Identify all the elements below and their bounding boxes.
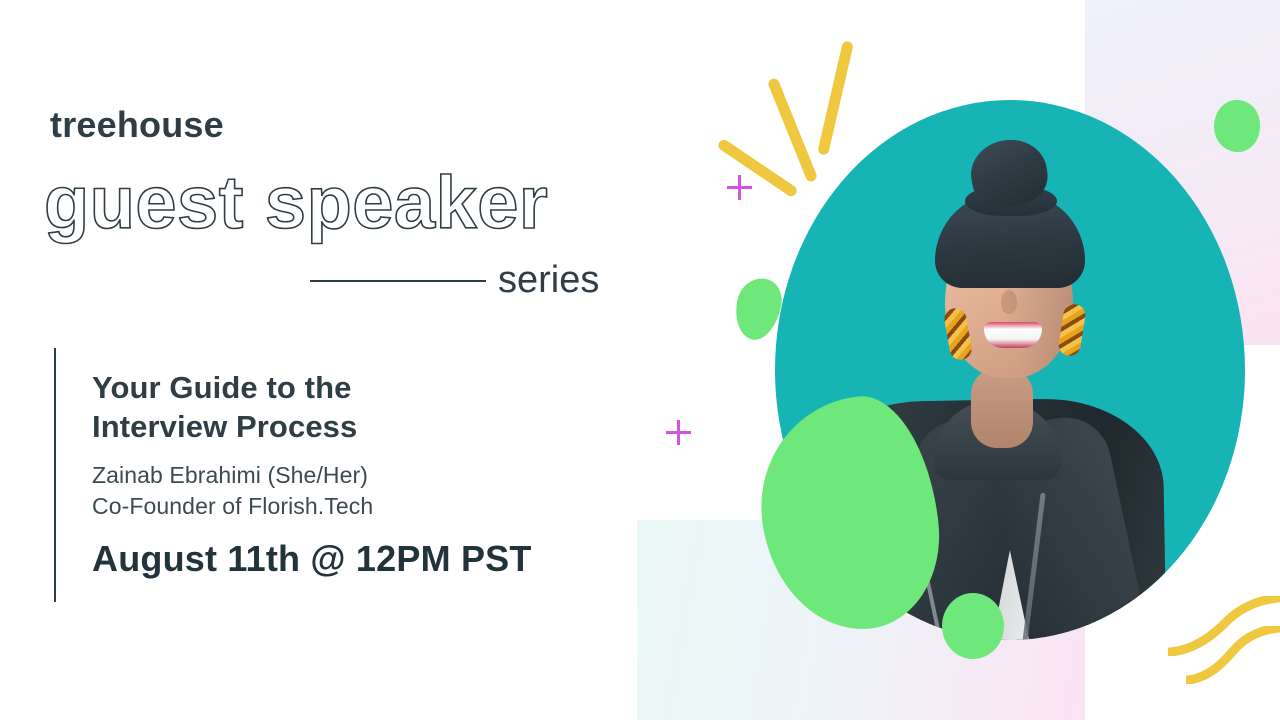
talk-info-block: Your Guide to the Interview Process Zain… [92,368,632,579]
talk-title-line2: Interview Process [92,409,357,444]
plus-mark-icon-2 [666,420,691,445]
sparkle-ray-icon-2 [767,77,818,183]
event-datetime: August 11th @ 12PM PST [92,538,632,579]
smile-shape [984,322,1042,348]
brand-name: treehouse [50,107,224,143]
speaker-role: Co-Founder of Florish.Tech [92,491,632,522]
neck-shape [971,368,1033,448]
talk-title: Your Guide to the Interview Process [92,368,632,446]
speaker-portrait-photo [828,28,1228,648]
series-divider [310,280,486,282]
series-label: series [498,256,599,304]
vertical-accent-rule [54,348,56,602]
headline-title: guest speaker [44,166,548,240]
plus-mark-icon-1 [727,175,752,200]
speaker-name: Zainab Ebrahimi (She/Her) [92,460,632,491]
talk-title-line1: Your Guide to the [92,370,351,405]
sparkle-ray-icon-3 [716,138,798,199]
series-row: series [310,256,625,304]
portrait-circle-mask [828,100,1228,640]
nose-shape [1001,290,1017,314]
promo-banner: treehouse guest speaker series Your Guid… [0,0,1280,720]
green-blob-bean-icon [730,274,786,344]
